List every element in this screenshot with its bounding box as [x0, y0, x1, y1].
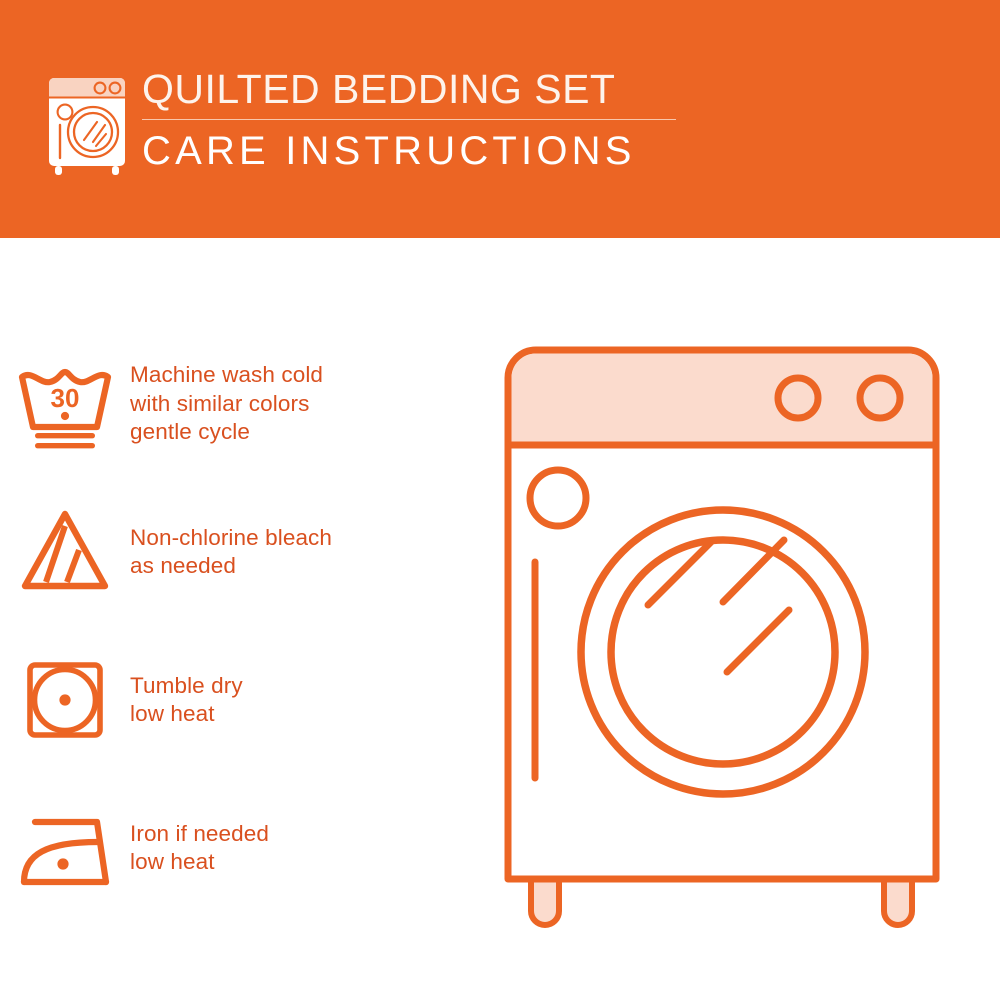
- front-load-washing-machine-illustration: [488, 330, 978, 940]
- care-line: Machine wash cold: [130, 361, 323, 390]
- infographic-canvas: QUILTED BEDDING SET CARE INSTRUCTIONS 30…: [0, 0, 1000, 1000]
- list-item: Non-chlorine bleach as needed: [0, 478, 490, 626]
- care-text-1: Machine wash cold with similar colors ge…: [130, 361, 323, 447]
- list-item: Iron if needed low heat: [0, 774, 490, 922]
- control-panel: [512, 354, 933, 444]
- list-item: 30 Machine wash cold with similar colors…: [0, 330, 490, 478]
- care-line: gentle cycle: [130, 418, 323, 447]
- wash-temperature-value: 30: [51, 383, 80, 413]
- care-text-4: Iron if needed low heat: [130, 820, 269, 877]
- care-line: with similar colors: [130, 390, 323, 419]
- wash-tub-30-gentle-icon: 30: [0, 349, 130, 459]
- non-chlorine-bleach-triangle-icon: [0, 497, 130, 607]
- leg-left: [531, 878, 559, 925]
- care-line: low heat: [130, 700, 243, 729]
- iron-low-heat-icon: [0, 793, 130, 903]
- care-line: Non-chlorine bleach: [130, 524, 332, 553]
- page-title: QUILTED BEDDING SET: [142, 66, 702, 112]
- care-line: Iron if needed: [130, 820, 269, 849]
- care-line: low heat: [130, 848, 269, 877]
- header-banner: QUILTED BEDDING SET CARE INSTRUCTIONS: [0, 0, 1000, 238]
- page-subtitle: CARE INSTRUCTIONS: [142, 129, 702, 174]
- care-line: Tumble dry: [130, 672, 243, 701]
- header-text-block: QUILTED BEDDING SET CARE INSTRUCTIONS: [142, 66, 702, 174]
- care-text-2: Non-chlorine bleach as needed: [130, 524, 332, 581]
- leg-right: [884, 878, 912, 925]
- title-divider: [142, 119, 676, 120]
- care-instruction-list: 30 Machine wash cold with similar colors…: [0, 330, 490, 922]
- list-item: Tumble dry low heat: [0, 626, 490, 774]
- care-line: as needed: [130, 552, 332, 581]
- tumble-dry-low-heat-icon: [0, 645, 130, 755]
- care-text-3: Tumble dry low heat: [130, 672, 243, 729]
- washing-machine-icon: [44, 70, 136, 178]
